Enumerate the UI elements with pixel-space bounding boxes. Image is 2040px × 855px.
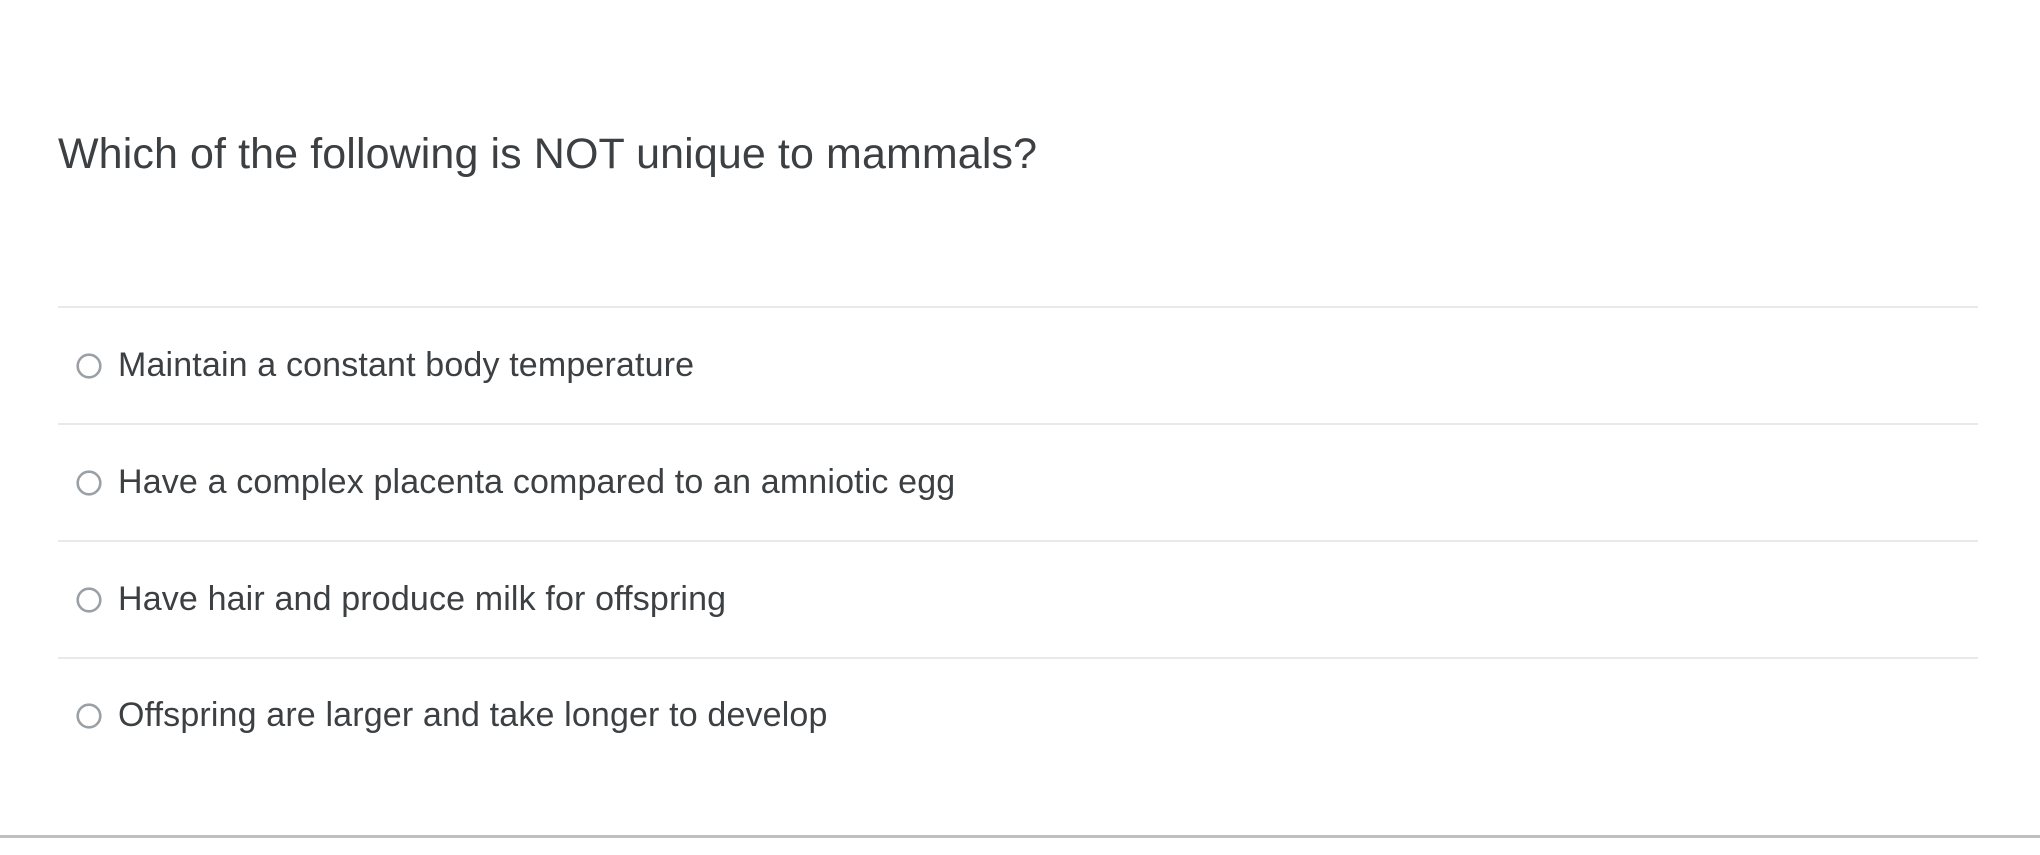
radio-unselected-icon[interactable] [76, 587, 102, 613]
answer-options-list: Maintain a constant body temperature Hav… [58, 306, 1978, 773]
answer-option-label: Have hair and produce milk for offspring [118, 579, 726, 621]
radio-unselected-icon[interactable] [76, 703, 102, 729]
answer-option-2[interactable]: Have a complex placenta compared to an a… [58, 423, 1978, 540]
page-title: Which of the following is NOT unique to … [58, 128, 1037, 180]
answer-option-1[interactable]: Maintain a constant body temperature [58, 306, 1978, 423]
radio-unselected-icon[interactable] [76, 470, 102, 496]
answer-option-3[interactable]: Have hair and produce milk for offspring [58, 540, 1978, 657]
answer-option-label: Maintain a constant body temperature [118, 345, 694, 387]
answer-option-4[interactable]: Offspring are larger and take longer to … [58, 657, 1978, 773]
radio-unselected-icon[interactable] [76, 353, 102, 379]
answer-option-label: Offspring are larger and take longer to … [118, 695, 828, 737]
card-bottom-divider [0, 835, 2040, 838]
answer-option-label: Have a complex placenta compared to an a… [118, 462, 955, 504]
quiz-question-card: Which of the following is NOT unique to … [0, 0, 2040, 855]
